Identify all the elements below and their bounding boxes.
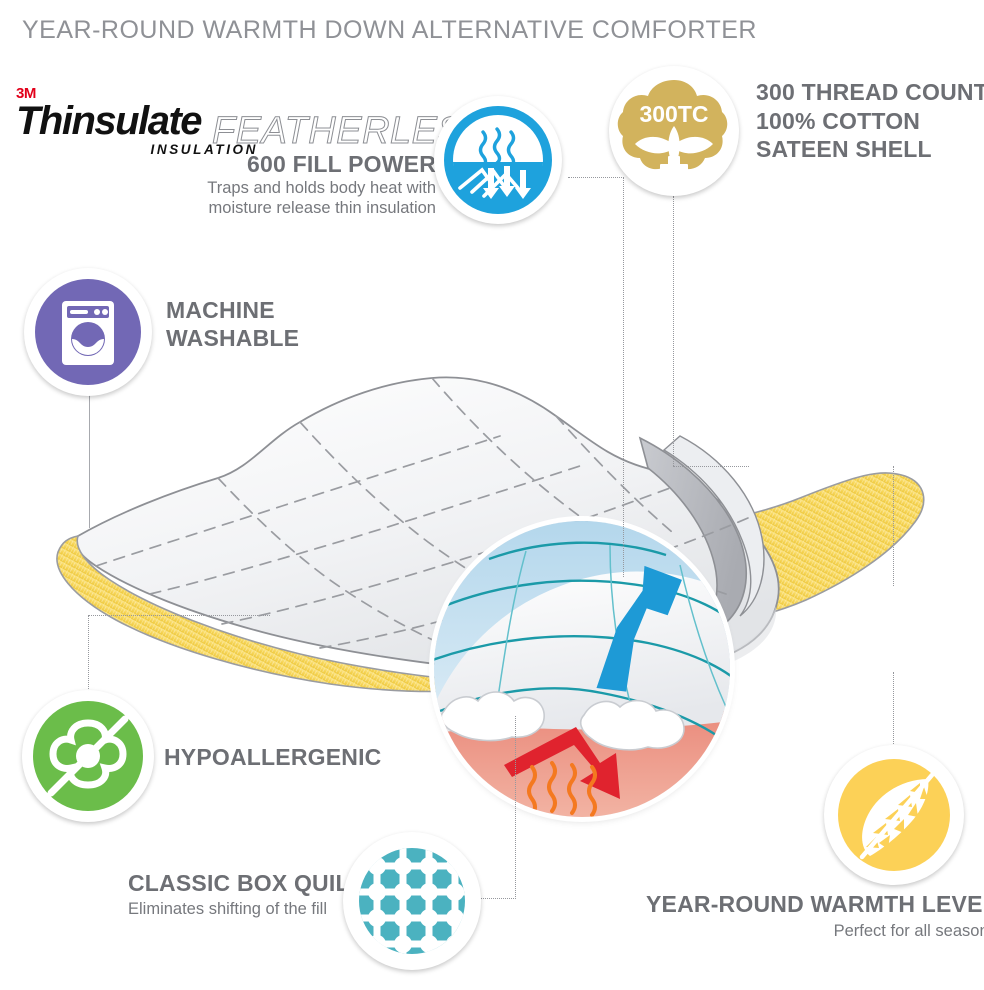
no-allergen-flower-icon[interactable] bbox=[22, 690, 154, 822]
leader-moisture-v bbox=[623, 177, 624, 577]
infographic-root: YEAR-ROUND WARMTH DOWN ALTERNATIVE COMFO… bbox=[0, 0, 984, 990]
cross-section-magnifier bbox=[434, 521, 730, 817]
hypoallergenic-heading: HYPOALLERGENIC bbox=[164, 745, 381, 771]
leader-washer-v bbox=[89, 392, 90, 528]
box-quilt-heading: CLASSIC BOX QUILT bbox=[128, 871, 362, 897]
feature-thread-count-text: 300 THREAD COUNT 100% COTTON SATEEN SHEL… bbox=[756, 78, 984, 164]
leader-quilt-v bbox=[515, 716, 516, 899]
leader-warmth-v2 bbox=[893, 466, 894, 586]
page-title: YEAR-ROUND WARMTH DOWN ALTERNATIVE COMFO… bbox=[22, 16, 757, 45]
thread-count-line-3: SATEEN SHELL bbox=[756, 135, 984, 164]
leader-quilt-h bbox=[478, 898, 516, 899]
thread-count-line-2: 100% COTTON bbox=[756, 107, 984, 136]
cotton-icon-text: 300TC bbox=[639, 101, 708, 127]
leader-hypo-h bbox=[88, 615, 270, 616]
feature-hypoallergenic-text: HYPOALLERGENIC bbox=[164, 745, 381, 771]
feature-box-quilt-text: CLASSIC BOX QUILT Eliminates shifting of… bbox=[128, 871, 362, 919]
box-quilt-sub: Eliminates shifting of the fill bbox=[128, 899, 362, 919]
warmth-level-heading: YEAR-ROUND WARMTH LEVEL bbox=[646, 892, 984, 918]
feature-warmth-level-text: YEAR-ROUND WARMTH LEVEL Perfect for all … bbox=[646, 892, 984, 941]
feature-fill-power-text: 600 FILL POWER Traps and holds body heat… bbox=[196, 152, 436, 218]
warmth-level-sub: Perfect for all seasons bbox=[646, 921, 984, 941]
leader-cotton-v bbox=[673, 196, 674, 466]
fill-power-heading: 600 FILL POWER bbox=[196, 152, 436, 178]
cotton-boll-icon[interactable]: 300TC bbox=[609, 66, 739, 196]
washing-machine-icon[interactable] bbox=[24, 268, 152, 396]
feature-machine-washable-text: MACHINE WASHABLE bbox=[166, 297, 299, 352]
machine-washable-line-2: WASHABLE bbox=[166, 325, 299, 353]
moisture-release-icon[interactable] bbox=[434, 96, 562, 224]
leader-cotton-h bbox=[673, 466, 749, 467]
box-quilt-grid-icon[interactable] bbox=[343, 832, 481, 970]
machine-washable-line-1: MACHINE bbox=[166, 297, 299, 325]
leader-warmth-v bbox=[893, 672, 894, 748]
thread-count-line-1: 300 THREAD COUNT bbox=[756, 78, 984, 107]
fill-power-sub-1: Traps and holds body heat with bbox=[196, 178, 436, 198]
fill-power-sub-2: moisture release thin insulation bbox=[196, 198, 436, 218]
feather-icon[interactable] bbox=[824, 745, 964, 885]
leader-hypo-v bbox=[88, 615, 89, 701]
